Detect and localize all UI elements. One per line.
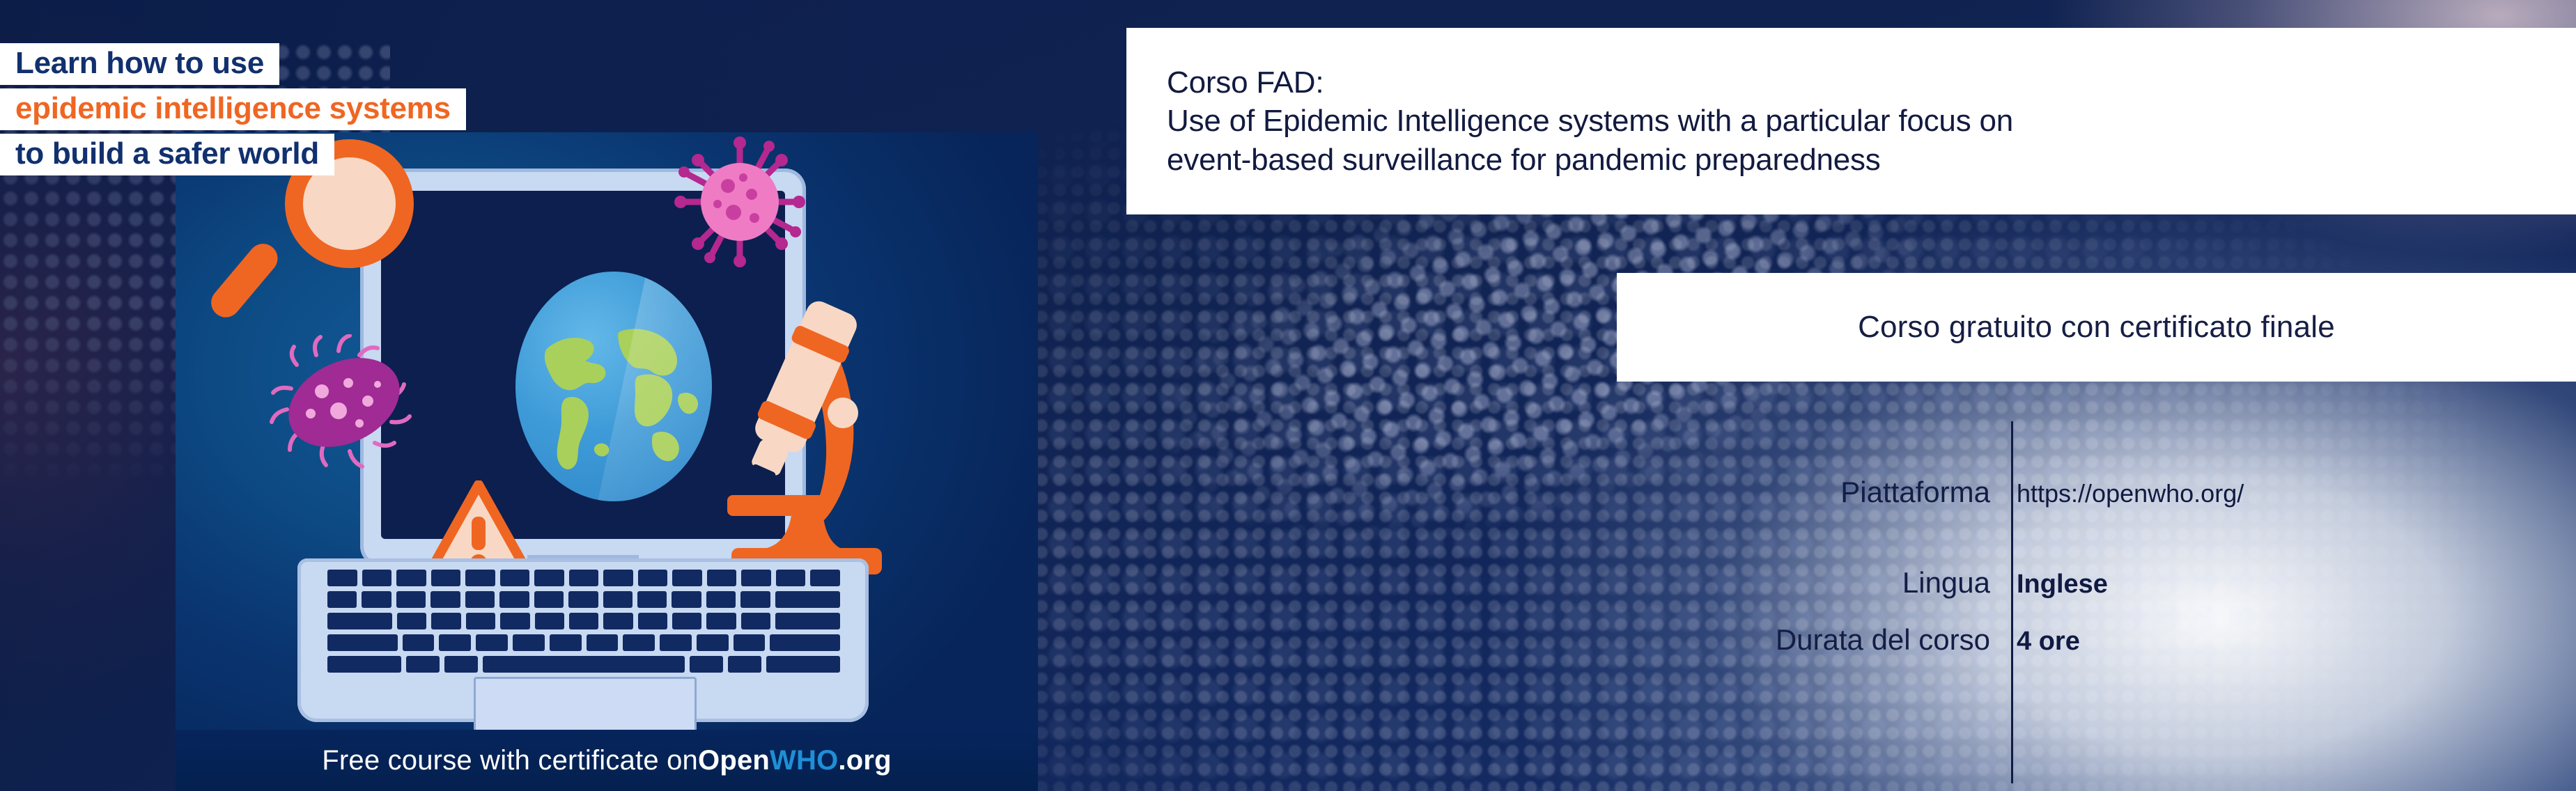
course-title-line-3: event-based surveillance for pandemic pr…: [1167, 141, 2576, 179]
headline-line-1: Learn how to use: [0, 43, 279, 85]
headline-line-2: epidemic intelligence systems: [0, 88, 466, 130]
course-title-card: Corso FAD: Use of Epidemic Intelligence …: [1126, 28, 2576, 214]
info-label-platform: Piattaforma: [1658, 476, 2003, 509]
caption-brand-open: Open: [698, 745, 770, 776]
caption-brand-tld: .org: [838, 745, 891, 776]
headline: Learn how to use epidemic intelligence s…: [0, 43, 466, 175]
magnifier-handle: [205, 238, 284, 324]
info-value-duration: 4 ore: [2003, 627, 2080, 657]
microscope-icon: [726, 289, 886, 578]
course-title-line-2: Use of Epidemic Intelligence systems wit…: [1167, 102, 2576, 140]
course-info-table: Piattaforma https://openwho.org/ Lingua …: [1658, 421, 2285, 783]
info-value-platform[interactable]: https://openwho.org/: [2003, 479, 2244, 508]
virus-icon: [674, 136, 806, 268]
laptop-trackpad: [474, 677, 697, 730]
illustration-panel: [176, 132, 1038, 730]
free-course-badge-label: Corso gratuito con certificato finale: [1858, 310, 2335, 345]
laptop-keyboard: [327, 570, 840, 667]
free-course-badge: Corso gratuito con certificato finale: [1617, 273, 2576, 382]
course-title-line-1: Corso FAD:: [1167, 63, 2576, 102]
banner-root: Free course with certificate on OpenWHO.…: [0, 0, 2576, 791]
info-row-platform: Piattaforma https://openwho.org/: [1658, 476, 2244, 509]
info-value-language: Inglese: [2003, 570, 2108, 600]
info-row-duration: Durata del corso 4 ore: [1658, 623, 2080, 657]
info-label-duration: Durata del corso: [1658, 623, 2003, 657]
globe-icon: [515, 272, 712, 501]
free-course-caption: Free course with certificate on OpenWHO.…: [176, 730, 1038, 791]
caption-brand-who: WHO: [770, 745, 838, 776]
caption-prefix: Free course with certificate on: [322, 745, 698, 776]
info-label-language: Lingua: [1658, 566, 2003, 600]
headline-line-3: to build a safer world: [0, 134, 334, 175]
bacteria-icon: [266, 334, 437, 477]
info-row-language: Lingua Inglese: [1658, 566, 2108, 600]
